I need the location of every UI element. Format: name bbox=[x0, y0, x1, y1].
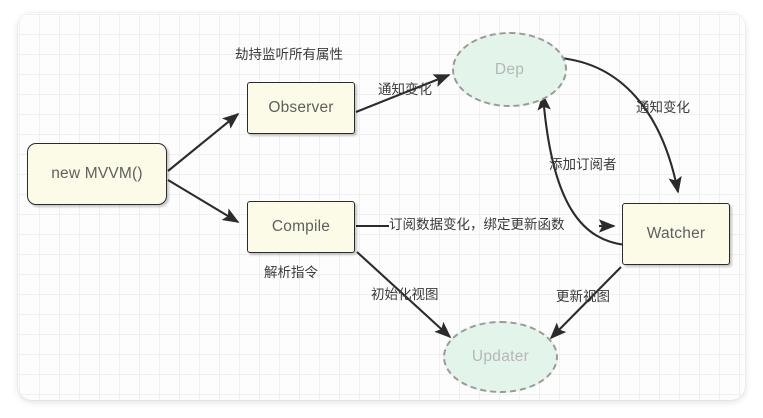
edge-label-add-subscriber: 添加订阅者 bbox=[549, 158, 617, 172]
diagram-stage: new MVVM() Observer Compile Dep Watcher … bbox=[0, 0, 763, 418]
node-dep[interactable]: Dep bbox=[452, 32, 567, 107]
node-new-mvvm[interactable]: new MVVM() bbox=[27, 143, 167, 205]
node-updater[interactable]: Updater bbox=[443, 321, 558, 393]
edge-label-subscribe-bind-update: 订阅数据变化，绑定更新函数 bbox=[389, 218, 565, 232]
node-label: Updater bbox=[472, 348, 529, 366]
node-label: Dep bbox=[495, 61, 524, 79]
edge-label-init-view: 初始化视图 bbox=[371, 288, 439, 302]
edge-label-notify-change-dep: 通知变化 bbox=[636, 101, 690, 115]
edge-label-parse-directives: 解析指令 bbox=[264, 266, 318, 280]
node-label: Observer bbox=[268, 99, 333, 117]
edge-label-notify-change-observer: 通知变化 bbox=[378, 83, 432, 97]
node-label: Watcher bbox=[647, 225, 706, 243]
node-label: new MVVM() bbox=[51, 165, 143, 183]
node-observer[interactable]: Observer bbox=[247, 82, 355, 134]
node-compile[interactable]: Compile bbox=[247, 201, 355, 253]
node-watcher[interactable]: Watcher bbox=[622, 203, 730, 265]
edge-label-update-view: 更新视图 bbox=[556, 290, 610, 304]
edge-label-intercept-properties: 劫持监听所有属性 bbox=[235, 48, 343, 62]
node-label: Compile bbox=[272, 218, 330, 236]
